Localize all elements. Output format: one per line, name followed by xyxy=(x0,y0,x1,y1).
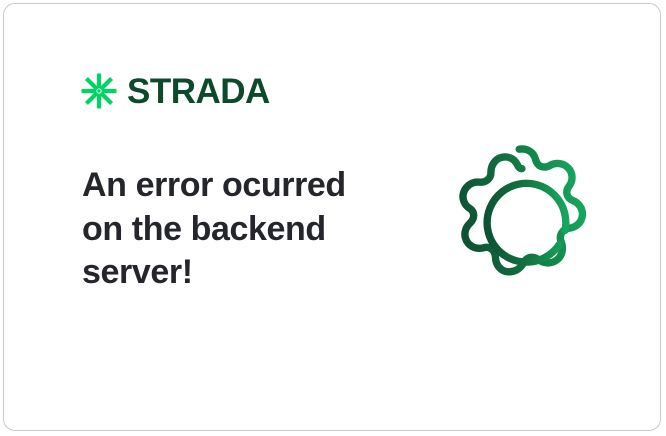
error-card: STRADA An error ocurred on the backend s… xyxy=(3,3,661,431)
asterisk-star-icon xyxy=(80,72,118,110)
error-message-line-3: server! xyxy=(82,251,382,295)
error-message: An error ocurred on the backend server! xyxy=(82,164,382,295)
error-message-line-2: on the backend xyxy=(82,208,382,252)
error-message-line-1: An error ocurred xyxy=(82,164,382,208)
brand-wordmark: STRADA xyxy=(127,74,270,109)
gear-icon xyxy=(447,137,611,301)
brand-logo: STRADA xyxy=(80,72,270,110)
